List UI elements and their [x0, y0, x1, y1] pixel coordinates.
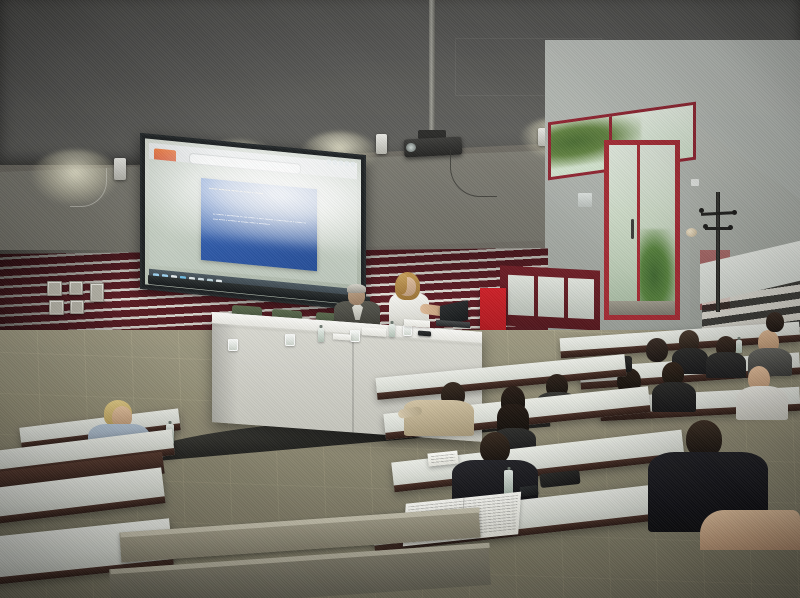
student-body-r8: [736, 386, 788, 420]
papers-1[interactable]: [362, 327, 386, 337]
power-outlet-box-5[interactable]: [70, 300, 84, 314]
student-head-r5: [766, 312, 784, 332]
lecture-hall-photo: •••••• •••••••• ••••• •• ••••• • •••••• …: [0, 0, 800, 598]
light-switch[interactable]: [691, 179, 699, 186]
water-bottle-right[interactable]: [736, 340, 742, 353]
water-bottle-2[interactable]: [389, 324, 395, 337]
drinking-glass-1[interactable]: [228, 339, 238, 351]
coat-hook-3: [703, 224, 708, 229]
tray-icon-2[interactable]: [333, 160, 337, 165]
drinking-glass-3[interactable]: [350, 330, 360, 342]
presenter-woman-hair-front: [397, 274, 407, 294]
wall-speaker-2: [376, 134, 387, 154]
door-threshold: [609, 301, 675, 315]
power-outlet-box-1[interactable]: [47, 281, 62, 296]
tray-icon-3[interactable]: [339, 160, 343, 165]
student-head-r1: [646, 338, 668, 362]
power-outlet-box-3[interactable]: [90, 283, 104, 302]
slide-title: •••••• •••••••• ••••• •• ••••• • ••••••: [209, 186, 309, 201]
wall-knob: [686, 228, 697, 237]
papers-3[interactable]: [333, 333, 351, 340]
coat-hook-2: [732, 210, 737, 215]
coat-rack-icon: [716, 192, 720, 312]
power-outlet-box-4[interactable]: [49, 300, 64, 315]
browser-page: •••••• •••••••• ••••• •• ••••• • •••••• …: [149, 159, 357, 285]
door-handle[interactable]: [631, 219, 634, 239]
phone-on-podium[interactable]: [418, 331, 431, 337]
student-body-c3: [404, 400, 474, 436]
presentation-slide: •••••• •••••••• ••••• •• ••••• • •••••• …: [201, 178, 317, 271]
drinking-glass-4[interactable]: [403, 325, 412, 336]
coat-hook-1: [699, 208, 704, 213]
door-foliage: [639, 229, 677, 307]
student-body-r7: [652, 382, 696, 412]
coat-hook-4: [728, 225, 733, 230]
presenter-desk-seam: [352, 333, 354, 432]
student-body-r3: [706, 352, 746, 378]
water-bottle-1[interactable]: [318, 328, 324, 342]
projector-mount-pole: [429, 0, 435, 134]
tray-icon-4[interactable]: [345, 161, 349, 166]
entrance-door[interactable]: [604, 140, 680, 320]
radiator-cover: [500, 265, 600, 330]
wall-speaker-1: [114, 158, 126, 180]
browser-tab[interactable]: [154, 148, 176, 161]
power-outlet-box-2[interactable]: [69, 281, 83, 295]
slide-body-text: •• •••••• • •••••••••• •• ••• •••••• • •…: [213, 212, 307, 230]
student-arm-r9: [700, 510, 800, 550]
wall-sign: [578, 193, 592, 207]
presenter-man-hair: [347, 284, 366, 293]
tray-icon-1[interactable]: [327, 159, 331, 164]
tray-icon-5[interactable]: [351, 162, 355, 167]
drinking-glass-2[interactable]: [285, 334, 295, 346]
door-mullion: [637, 145, 640, 315]
